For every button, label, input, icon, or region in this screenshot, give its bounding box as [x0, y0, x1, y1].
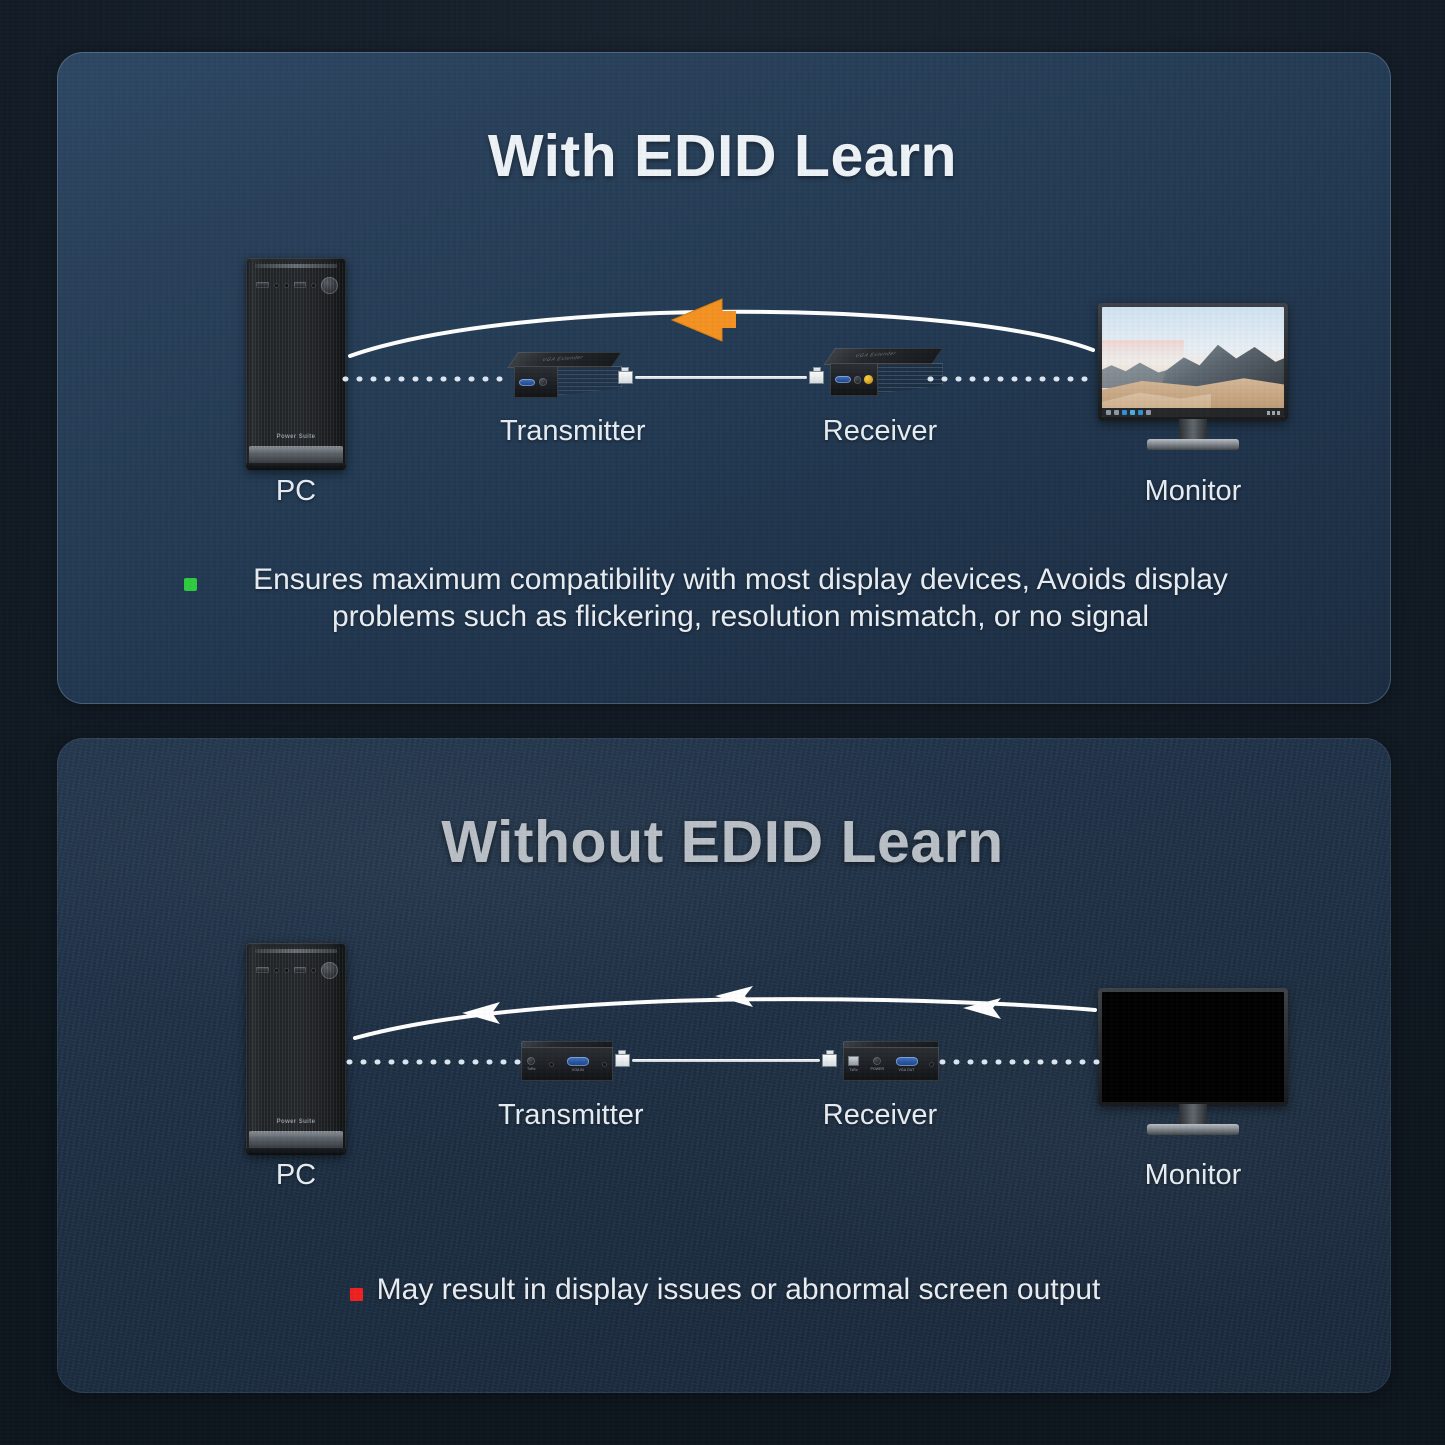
- screw-hole: [929, 1062, 934, 1067]
- label-monitor-bottom: Monitor: [1098, 1159, 1288, 1192]
- bullet-with-edid: Ensures maximum compatibility with most …: [172, 562, 1282, 636]
- monitor-neck: [1179, 1104, 1207, 1126]
- bullet-marker-green: [184, 578, 197, 591]
- mic-jack-icon: [284, 283, 289, 288]
- device-front-face: [514, 366, 558, 398]
- usb-port-icon: [256, 282, 269, 288]
- rj45-plug-icon: [820, 1054, 837, 1067]
- vga-port-icon: [519, 379, 535, 386]
- port-label-vga-in: VGA IN: [572, 1068, 584, 1072]
- device-brand-etch: VGA Extender: [541, 355, 585, 364]
- monitor-screen-blank: [1102, 992, 1284, 1102]
- pc-case-brand-logo: Power Suite: [246, 1119, 346, 1125]
- label-receiver-top: Receiver: [820, 415, 940, 448]
- device-brand-etch: VGA Extender: [854, 351, 898, 360]
- label-transmitter-bottom: Transmitter: [498, 1099, 628, 1132]
- mic-jack-icon: [284, 968, 289, 973]
- port-label-power: TxRx: [527, 1067, 535, 1071]
- power-jack-icon: [527, 1057, 535, 1065]
- pc-tower-bottom: Power Suite: [246, 943, 346, 1155]
- taskview-icon: [1122, 410, 1127, 415]
- screw-hole: [602, 1062, 607, 1067]
- page-background: With EDID Learn Without EDID Learn Power…: [0, 0, 1445, 1445]
- ethernet-cable-top: [618, 370, 824, 384]
- vga-port-icon: [835, 376, 851, 383]
- rca-audio-port-icon: [864, 375, 873, 384]
- monitor-bottom: [1098, 988, 1288, 1135]
- pc-front-ports: [256, 277, 338, 293]
- port-label-txrx: TxRx: [849, 1068, 857, 1072]
- pc-tower-top: Power Suite: [246, 258, 346, 470]
- transmitter-device-bottom: TxRx VGA IN: [521, 1041, 613, 1083]
- monitor-bezel: [1098, 988, 1288, 1106]
- rj45-plug-icon: [615, 1054, 632, 1067]
- transmitter-device-top: VGA Extender: [512, 352, 622, 402]
- label-transmitter-top: Transmitter: [500, 415, 630, 448]
- search-icon: [1114, 410, 1119, 415]
- rj45-plug-icon: [807, 371, 824, 384]
- audio-jack-icon: [274, 283, 279, 288]
- panel-with-edid-title: With EDID Learn: [0, 122, 1445, 190]
- power-jack-icon: [539, 378, 547, 386]
- pc-case: Power Suite: [246, 258, 346, 470]
- port-label-vga-out: VGA OUT: [899, 1068, 915, 1072]
- power-button-icon: [321, 277, 338, 294]
- pc-foot: [246, 1148, 346, 1155]
- rj45-port-icon: [848, 1056, 859, 1066]
- rj45-plug-icon: [618, 371, 635, 384]
- monitor-stand: [1147, 439, 1239, 450]
- label-monitor-top: Monitor: [1098, 475, 1288, 508]
- power-button-icon: [321, 962, 338, 979]
- label-pc-bottom: PC: [246, 1159, 346, 1192]
- vga-port-icon: [896, 1057, 918, 1066]
- device-side-face: [554, 366, 622, 396]
- cable-wire: [635, 376, 807, 379]
- receiver-device-top: VGA Extender: [828, 348, 943, 400]
- monitor-stand: [1147, 1124, 1239, 1135]
- pc-case: Power Suite: [246, 943, 346, 1155]
- receiver-device-bottom: TxRx POWER VGA OUT: [843, 1041, 939, 1083]
- audio-jack-icon: [274, 968, 279, 973]
- taskbar: [1102, 408, 1284, 417]
- device-front-face: TxRx VGA IN: [521, 1047, 613, 1081]
- monitor-bezel: [1098, 303, 1288, 421]
- screw-hole: [549, 1062, 554, 1067]
- monitor-top: [1098, 303, 1288, 450]
- power-jack-icon: [854, 376, 862, 384]
- usb-port-icon: [294, 282, 307, 288]
- monitor-neck: [1179, 419, 1207, 441]
- device-front-face: TxRx POWER VGA OUT: [843, 1047, 939, 1081]
- pc-top-vent: [255, 949, 337, 953]
- bullet-text-with-edid: Ensures maximum compatibility with most …: [211, 562, 1271, 636]
- desktop-wallpaper-image: [1102, 307, 1284, 417]
- usb-port-icon: [294, 967, 307, 973]
- start-button-icon: [1106, 410, 1111, 415]
- explorer-icon: [1138, 410, 1143, 415]
- device-front-face: [830, 363, 878, 396]
- pc-base-trim: [249, 1131, 343, 1149]
- reset-button-icon: [311, 968, 316, 973]
- ethernet-cable-bottom: [615, 1053, 837, 1067]
- bullet-marker-red: [350, 1288, 363, 1301]
- store-icon: [1146, 410, 1151, 415]
- usb-port-icon: [256, 967, 269, 973]
- label-receiver-bottom: Receiver: [820, 1099, 940, 1132]
- bullet-without-edid: May result in display issues or abnormal…: [300, 1272, 1150, 1309]
- vga-port-icon: [567, 1057, 589, 1066]
- monitor-screen-active: [1102, 307, 1284, 417]
- reset-button-icon: [311, 283, 316, 288]
- pc-base-trim: [249, 446, 343, 464]
- edge-icon: [1130, 410, 1135, 415]
- system-tray: [1267, 411, 1280, 415]
- label-pc-top: PC: [246, 475, 346, 508]
- power-jack-icon: [873, 1057, 881, 1065]
- pc-front-ports: [256, 962, 338, 978]
- panel-without-edid-title: Without EDID Learn: [0, 808, 1445, 876]
- device-side-face: [874, 363, 943, 394]
- bullet-text-without-edid: May result in display issues or abnormal…: [377, 1272, 1101, 1309]
- pc-foot: [246, 463, 346, 470]
- pc-top-vent: [255, 264, 337, 268]
- port-label-power: POWER: [870, 1067, 884, 1071]
- cable-wire: [632, 1059, 820, 1062]
- pc-case-brand-logo: Power Suite: [246, 434, 346, 440]
